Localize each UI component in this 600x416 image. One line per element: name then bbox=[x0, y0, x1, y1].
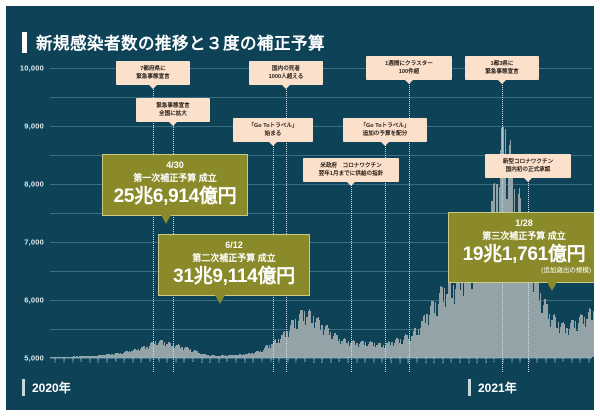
x-axis-tick: 1/16 bbox=[50, 360, 59, 378]
budget-box-1: 4/30第一次補正予算 成立25兆6,914億円 bbox=[102, 154, 248, 216]
x-axis-tick: 2/20 bbox=[93, 360, 102, 378]
budget-date: 1/28 bbox=[457, 218, 591, 230]
y-axis-tick-label: 6,000 bbox=[24, 296, 44, 305]
x-axis-tick: 12/17 bbox=[463, 360, 472, 378]
x-axis-tick: 12/10 bbox=[455, 360, 464, 378]
x-axis-tick: 12/24 bbox=[472, 360, 481, 378]
budget-box-2: 6/12第二次補正予算 成立31兆9,114億円 bbox=[158, 234, 310, 296]
budget-name: 第二次補正予算 成立 bbox=[167, 252, 301, 265]
x-axis-tick: 2/11 bbox=[532, 360, 541, 378]
budget-amount: 19兆1,761億円 bbox=[457, 244, 591, 266]
x-axis-tick: 1/28 bbox=[515, 360, 524, 378]
x-axis-tick: 3/25 bbox=[584, 360, 593, 378]
budget-name: 第一次補正予算 成立 bbox=[111, 172, 239, 185]
x-axis-tick: 1/30 bbox=[67, 360, 76, 378]
x-axis-tick: 7/30 bbox=[291, 360, 300, 378]
infographic-root: 新規感染者数の推移と３度の補正予算 10,0009,0008,0007,0006… bbox=[0, 0, 600, 416]
x-axis-tick: 10/1 bbox=[369, 360, 378, 378]
x-axis-tick: 3/4 bbox=[558, 360, 567, 378]
y-axis-tick-label: 9,000 bbox=[24, 122, 44, 131]
x-axis-tick: 7/2 bbox=[257, 360, 266, 378]
x-axis-tick: 2/27 bbox=[102, 360, 111, 378]
x-axis-tick: 3/11 bbox=[567, 360, 576, 378]
x-axis-tick: 10/22 bbox=[394, 360, 403, 378]
x-axis-tick: 3/12 bbox=[119, 360, 128, 378]
y-axis-tick-label: 7,000 bbox=[24, 238, 44, 247]
x-axis-tick: 10/29 bbox=[403, 360, 412, 378]
x-axis-tick: 1/7 bbox=[489, 360, 498, 378]
page-title: 新規感染者数の推移と３度の補正予算 bbox=[22, 30, 325, 54]
y-axis-tick-label: 5,000 bbox=[24, 354, 44, 363]
x-axis-tick: 12/31 bbox=[480, 360, 489, 378]
event-callout-5: 1週間にクラスター 100件超 bbox=[366, 56, 452, 80]
year-accent-bar bbox=[468, 379, 471, 396]
y-axis-tick-label: 4,000 bbox=[24, 412, 44, 416]
event-callout-2: 国内の死者 1000人超える bbox=[249, 61, 323, 85]
event-callout-6: 1都3県に 緊急事態宣言 bbox=[465, 56, 539, 80]
year-label-2021: 2021年 bbox=[468, 379, 517, 396]
page-title-text: 新規感染者数の推移と３度の補正予算 bbox=[36, 30, 325, 54]
x-axis-tick: 10/15 bbox=[386, 360, 395, 378]
bar bbox=[593, 311, 594, 357]
x-axis-tick: 4/16 bbox=[162, 360, 171, 378]
event-callout-1: 緊急事態宣言 全国に拡大 bbox=[136, 98, 210, 122]
x-axis-tick: 3/19 bbox=[127, 360, 136, 378]
x-axis-tick: 2/13 bbox=[84, 360, 93, 378]
year-label-2020-text: 2020年 bbox=[32, 379, 71, 396]
x-axis-tick: 8/6 bbox=[300, 360, 309, 378]
x-axis-tick: 3/5 bbox=[110, 360, 119, 378]
x-axis-tick: 4/30 bbox=[179, 360, 188, 378]
x-axis-tick: 2/6 bbox=[76, 360, 85, 378]
x-axis-tick: 4/9 bbox=[153, 360, 162, 378]
year-label-2021-text: 2021年 bbox=[478, 379, 517, 396]
x-axis-tick: 6/4 bbox=[222, 360, 231, 378]
x-axis-tick: 11/12 bbox=[420, 360, 429, 378]
x-axis-tick: 4/23 bbox=[171, 360, 180, 378]
event-callout-3: 「Go Toトラベル」 始まる bbox=[233, 118, 313, 142]
x-axis-tick: 11/19 bbox=[429, 360, 438, 378]
year-accent-bar bbox=[22, 379, 25, 396]
x-axis-tick: 2/18 bbox=[541, 360, 550, 378]
x-axis-tick: 12/3 bbox=[446, 360, 455, 378]
event-callout-8: 新型コロナワクチン 国内初の正式承認 bbox=[485, 154, 571, 178]
budget-date: 4/30 bbox=[111, 160, 239, 172]
x-axis-tick: 1/23 bbox=[59, 360, 68, 378]
x-axis-tick: 2/25 bbox=[549, 360, 558, 378]
x-axis-tick: 7/16 bbox=[274, 360, 283, 378]
x-axis-tick: 5/21 bbox=[205, 360, 214, 378]
x-axis-tick: 6/25 bbox=[248, 360, 257, 378]
budget-amount: 31兆9,114億円 bbox=[167, 266, 301, 288]
x-axis-tick: 8/20 bbox=[317, 360, 326, 378]
x-axis-tick: 6/11 bbox=[231, 360, 240, 378]
x-axis-tick: 5/7 bbox=[188, 360, 197, 378]
event-callout-4: 「Go Toトラベル」 追加の予算を配分 bbox=[343, 118, 427, 142]
x-axis-tick: 1/21 bbox=[506, 360, 515, 378]
budget-date: 6/12 bbox=[167, 240, 301, 252]
budget-amount: 25兆6,914億円 bbox=[111, 186, 239, 208]
budget-note: (追加歳出の規模) bbox=[457, 267, 591, 275]
callout-leader-line bbox=[153, 86, 154, 372]
x-axis-tick: 11/26 bbox=[437, 360, 446, 378]
x-axis-tick: 5/14 bbox=[196, 360, 205, 378]
x-axis-tick: 8/13 bbox=[308, 360, 317, 378]
x-axis-tick: 9/3 bbox=[334, 360, 343, 378]
year-label-2020: 2020年 bbox=[22, 379, 71, 396]
event-callout-7: 米政府 コロナワクチン 翌年1月までに供給の指針 bbox=[303, 158, 399, 182]
x-axis-tick: 3/26 bbox=[136, 360, 145, 378]
x-axis-tick: 5/28 bbox=[214, 360, 223, 378]
x-axis-tick-labels: 1/161/231/302/62/132/202/273/53/123/193/… bbox=[50, 360, 592, 378]
budget-name: 第三次補正予算 成立 bbox=[457, 230, 591, 243]
event-callout-0: 7都府県に 緊急事態宣言 bbox=[116, 61, 190, 85]
x-axis-tick: 8/27 bbox=[326, 360, 335, 378]
callout-leader-line bbox=[351, 183, 352, 372]
x-axis-tick: 9/17 bbox=[351, 360, 360, 378]
y-axis-tick-label: 8,000 bbox=[24, 180, 44, 189]
title-accent-bar bbox=[22, 32, 27, 53]
x-axis-tick: 6/18 bbox=[239, 360, 248, 378]
x-axis-tick: 9/24 bbox=[360, 360, 369, 378]
x-axis-tick: 3/18 bbox=[575, 360, 584, 378]
budget-box-3: 1/28第三次補正予算 成立19兆1,761億円(追加歳出の規模) bbox=[448, 212, 600, 283]
x-axis-tick: 11/5 bbox=[412, 360, 421, 378]
y-axis-tick-label: 10,000 bbox=[20, 64, 44, 73]
